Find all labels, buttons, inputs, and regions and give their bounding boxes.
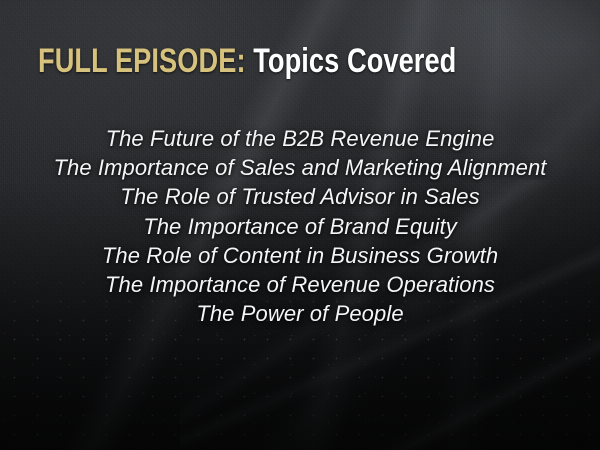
slide-title-accent: FULL EPISODE: [38,42,246,80]
topic-list-item: The Importance of Revenue Operations [0,270,600,299]
slide-title-main: Topics Covered [246,42,457,80]
topic-list-item: The Future of the B2B Revenue Engine [0,124,600,153]
slide-content: FULL EPISODE: Topics Covered The Future … [0,0,600,450]
presentation-slide: FULL EPISODE: Topics Covered The Future … [0,0,600,450]
slide-title: FULL EPISODE: Topics Covered [38,41,456,81]
topics-list: The Future of the B2B Revenue Engine The… [0,124,600,328]
topic-list-item: The Role of Trusted Advisor in Sales [0,182,600,211]
topic-list-item: The Role of Content in Business Growth [0,241,600,270]
topic-list-item: The Importance of Brand Equity [0,212,600,241]
topic-list-item: The Importance of Sales and Marketing Al… [0,153,600,182]
topic-list-item: The Power of People [0,299,600,328]
